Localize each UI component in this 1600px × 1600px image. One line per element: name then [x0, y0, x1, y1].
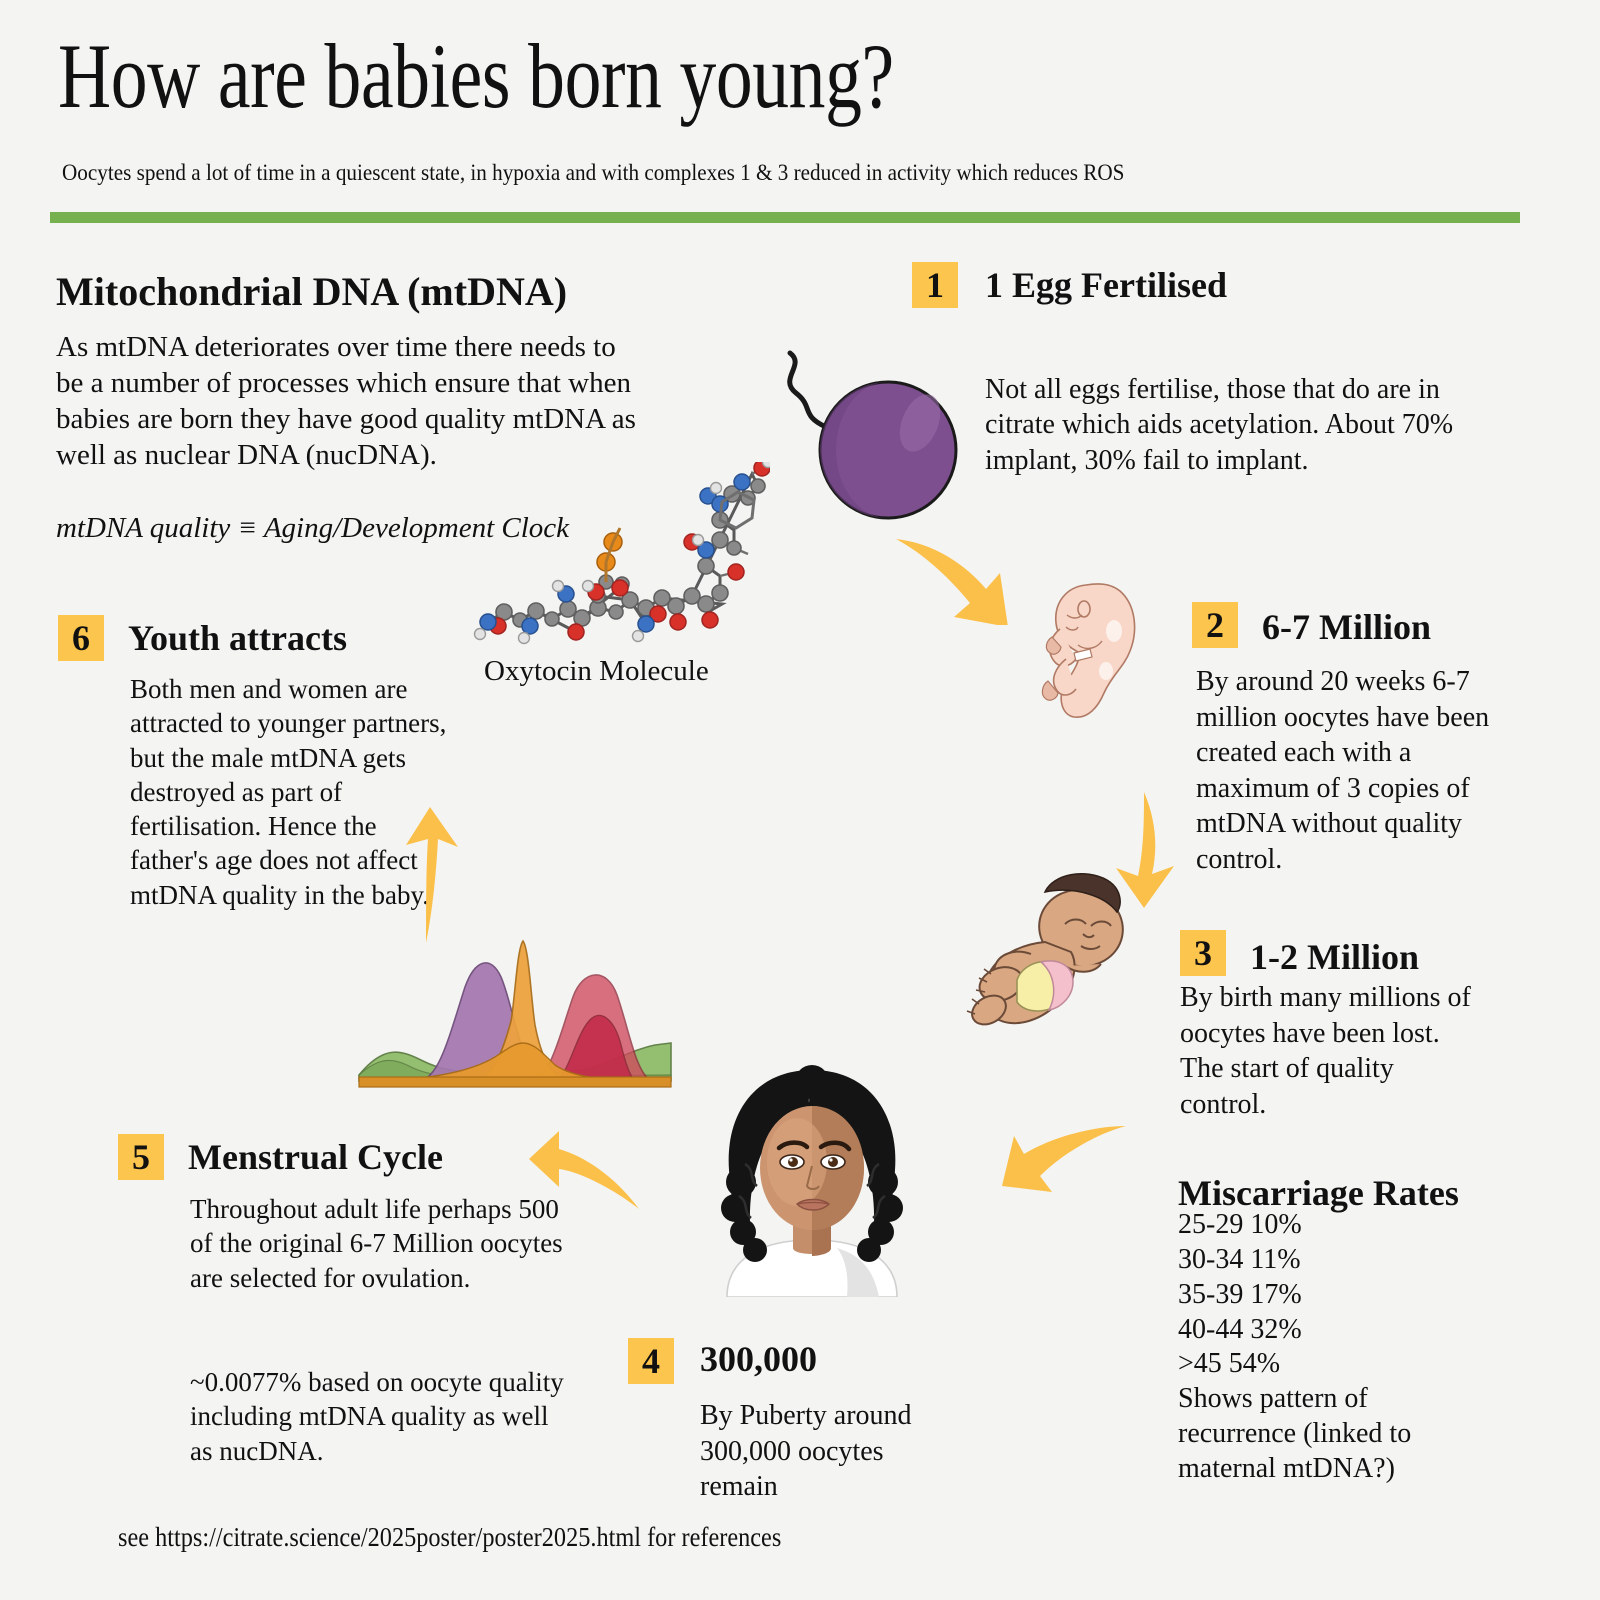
- step-3-badge: 3: [1180, 930, 1226, 976]
- step-4-title: 300,000: [700, 1338, 817, 1380]
- step-2-badge: 2: [1192, 602, 1238, 648]
- arrow-step4-to-step5: [525, 1125, 645, 1220]
- step-5-body: Throughout adult life perhaps 500 of the…: [190, 1192, 580, 1295]
- egg-fertilisation-figure: [770, 335, 970, 530]
- step-3-body: By birth many millions of oocytes have b…: [1180, 980, 1480, 1122]
- step-5-badge: 5: [118, 1134, 164, 1180]
- arrow-step3-to-step4: [1000, 1120, 1130, 1215]
- poster-root: How are babies born young? Oocytes spend…: [0, 0, 1600, 1600]
- step-1-title: 1 Egg Fertilised: [985, 264, 1315, 306]
- step-1-badge: 1: [912, 262, 958, 308]
- miscarriage-rate-list: 25-29 10% 30-34 11% 35-39 17% 40-44 32% …: [1178, 1208, 1508, 1487]
- step-2-title: 6-7 Million: [1262, 606, 1431, 648]
- arrow-step5-to-step6: [400, 805, 470, 950]
- fetus-figure: [1020, 575, 1170, 740]
- header-divider: [50, 212, 1520, 223]
- step-4-badge: 4: [628, 1338, 674, 1384]
- arrow-step2-to-step3: [1110, 790, 1210, 915]
- step-1-body: Not all eggs fertilise, those that do ar…: [985, 372, 1485, 478]
- step-3-title: 1-2 Million: [1250, 936, 1419, 978]
- step-4-body: By Puberty around 300,000 oocytes remain: [700, 1398, 960, 1505]
- menstrual-cycle-chart: [355, 925, 675, 1095]
- newborn-baby-figure: [945, 862, 1135, 1047]
- page-title: How are babies born young?: [58, 28, 894, 125]
- arrow-step1-to-step2: [890, 525, 1030, 630]
- references-footer: see https://citrate.science/2025poster/p…: [118, 1522, 781, 1553]
- step-6-badge: 6: [58, 615, 104, 661]
- mtdna-heading: Mitochondrial DNA (mtDNA): [56, 268, 567, 315]
- molecule-caption: Oxytocin Molecule: [484, 655, 709, 688]
- step-5-title: Menstrual Cycle: [188, 1136, 443, 1178]
- adult-woman-figure: [697, 1062, 927, 1302]
- mtdna-body-text: As mtDNA deteriorates over time there ne…: [56, 330, 636, 474]
- step-5-body-secondary: ~0.0077% based on oocyte quality includi…: [190, 1365, 570, 1468]
- oxytocin-molecule-figure: [470, 462, 770, 667]
- step-2-body: By around 20 weeks 6-7 million oocytes h…: [1196, 664, 1506, 877]
- page-subtitle: Oocytes spend a lot of time in a quiesce…: [62, 160, 1124, 186]
- step-6-title: Youth attracts: [128, 617, 347, 659]
